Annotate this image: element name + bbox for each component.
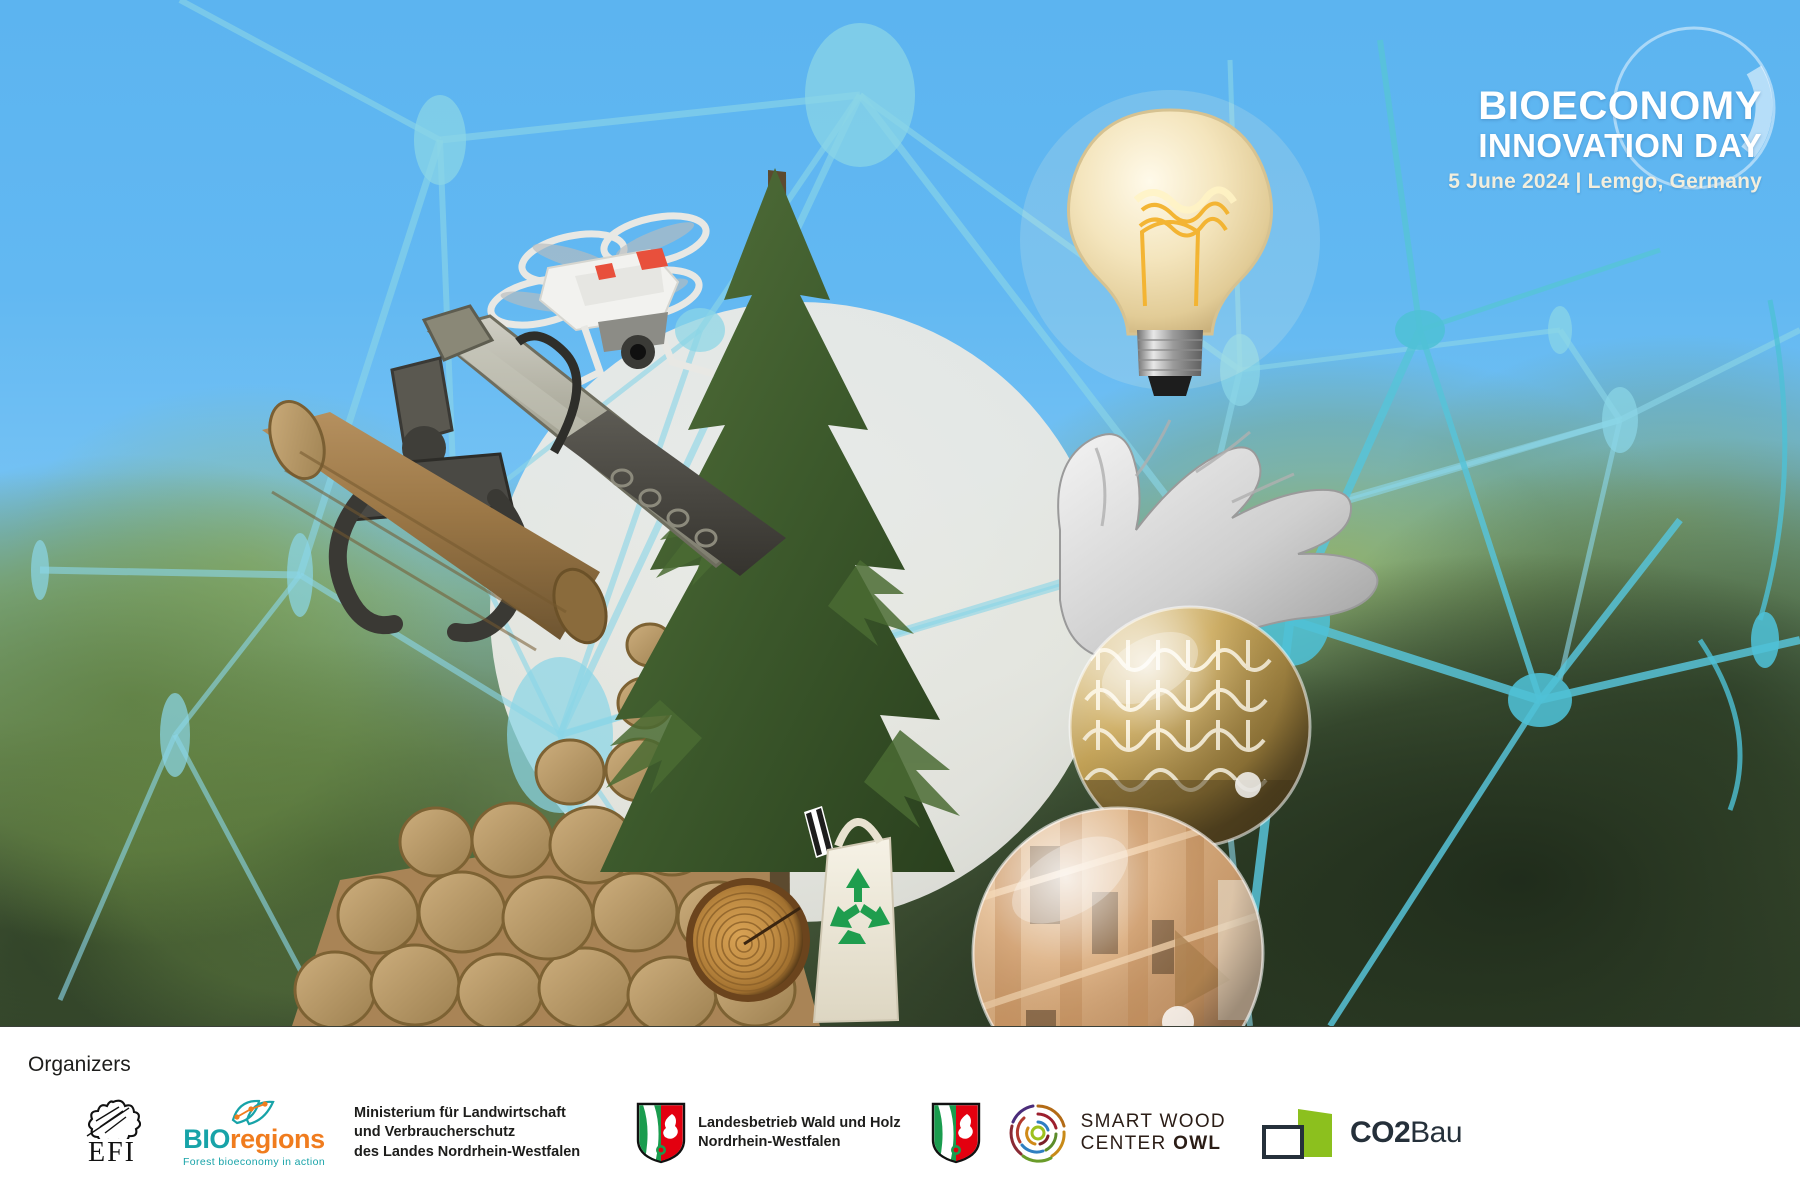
ministry-line3: des Landes Nordrhein-Westfalen [354, 1143, 580, 1162]
nrw-coat-of-arms-icon [636, 1102, 686, 1164]
swc-line2: CENTER OWL [1081, 1133, 1226, 1155]
co2bau-word-bau: Bau [1410, 1116, 1462, 1149]
tree-cross-section [686, 878, 810, 1002]
organizers-heading: Organizers [28, 1053, 131, 1077]
organizers-bar: Organizers EFI [0, 1026, 1800, 1179]
efi-logo[interactable]: EFI [64, 1099, 160, 1167]
smart-wood-center-owl-logo[interactable]: SMART WOOD CENTER OWL [1007, 1102, 1226, 1164]
bioregions-logo[interactable]: BIOregions Forest bioeconomy in action [174, 1098, 334, 1168]
concentric-arcs-icon [1007, 1102, 1069, 1164]
co2bau-word-co2: CO2 [1350, 1116, 1410, 1149]
ministry-line1: Ministerium für Landwirtschaft [354, 1104, 580, 1123]
bioregions-word-bio: BIO [183, 1124, 230, 1154]
organizer-logo-row: EFI BIOregions Forest bioeconomy in acti… [28, 1093, 1358, 1173]
efi-wordmark: EFI [88, 1139, 136, 1167]
nrw-crest-logo[interactable] [931, 1102, 981, 1164]
event-title-line2: INNOVATION DAY [1202, 126, 1762, 166]
nrw-coat-of-arms-icon [931, 1102, 981, 1164]
co2bau-logo[interactable]: CO2Bau [1260, 1105, 1462, 1161]
event-title-block: BIOECONOMY INNOVATION DAY 5 June 2024 | … [1202, 86, 1762, 198]
co2bau-wordmark: CO2Bau [1350, 1118, 1462, 1148]
swc-owl-word: OWL [1173, 1133, 1221, 1154]
oak-leaf-icon [83, 1099, 141, 1139]
lwh-line2: Nordrhein-Westfalen [698, 1133, 900, 1152]
event-date-location: 5 June 2024 | Lemgo, Germany [1202, 166, 1762, 198]
ministry-line2: und Verbraucherschutz [354, 1123, 580, 1142]
landesbetrieb-wald-holz-logo[interactable]: Landesbetrieb Wald und Holz Nordrhein-We… [636, 1102, 900, 1164]
ministry-nrw-logo[interactable]: Ministerium für Landwirtschaft und Verbr… [354, 1104, 580, 1162]
building-blocks-icon [1260, 1105, 1336, 1161]
event-title-line1: BIOECONOMY [1202, 86, 1762, 126]
poster-root: BIOECONOMY INNOVATION DAY 5 June 2024 | … [0, 0, 1800, 1179]
lwh-line1: Landesbetrieb Wald und Holz [698, 1114, 900, 1133]
swc-center-word: CENTER [1081, 1133, 1174, 1154]
hero-background: BIOECONOMY INNOVATION DAY 5 June 2024 | … [0, 0, 1800, 1026]
bioregions-tagline: Forest bioeconomy in action [183, 1156, 325, 1168]
bioregions-word-regions: regions [230, 1124, 325, 1154]
leaf-network-icon [227, 1098, 281, 1126]
swc-line1: SMART WOOD [1081, 1111, 1226, 1133]
bioregions-wordmark: BIOregions [183, 1126, 325, 1153]
